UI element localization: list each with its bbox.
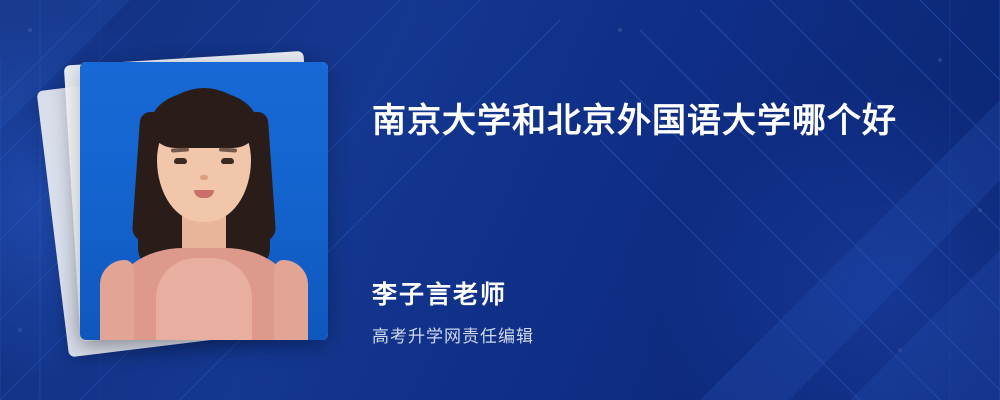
portrait-shoulder-right xyxy=(274,260,308,340)
author-name: 李子言老师 xyxy=(372,275,507,311)
portrait-photo xyxy=(80,62,328,340)
portrait-eye-left xyxy=(174,158,187,164)
article-header-banner: 南京大学和北京外国语大学哪个好 李子言老师 高考升学网责任编辑 xyxy=(0,0,1000,400)
portrait-shoulder-left xyxy=(100,260,134,340)
banner-text-block: 南京大学和北京外国语大学哪个好 李子言老师 高考升学网责任编辑 xyxy=(372,0,972,400)
photo-stack xyxy=(52,40,352,360)
portrait-eye-right xyxy=(221,158,234,164)
author-role: 高考升学网责任编辑 xyxy=(372,322,534,347)
portrait-fringe xyxy=(150,92,258,148)
page-title: 南京大学和北京外国语大学哪个好 xyxy=(372,98,897,144)
portrait-dress-highlight xyxy=(156,258,252,340)
portrait-nose xyxy=(200,175,208,180)
portrait-photo-inner xyxy=(80,62,328,340)
